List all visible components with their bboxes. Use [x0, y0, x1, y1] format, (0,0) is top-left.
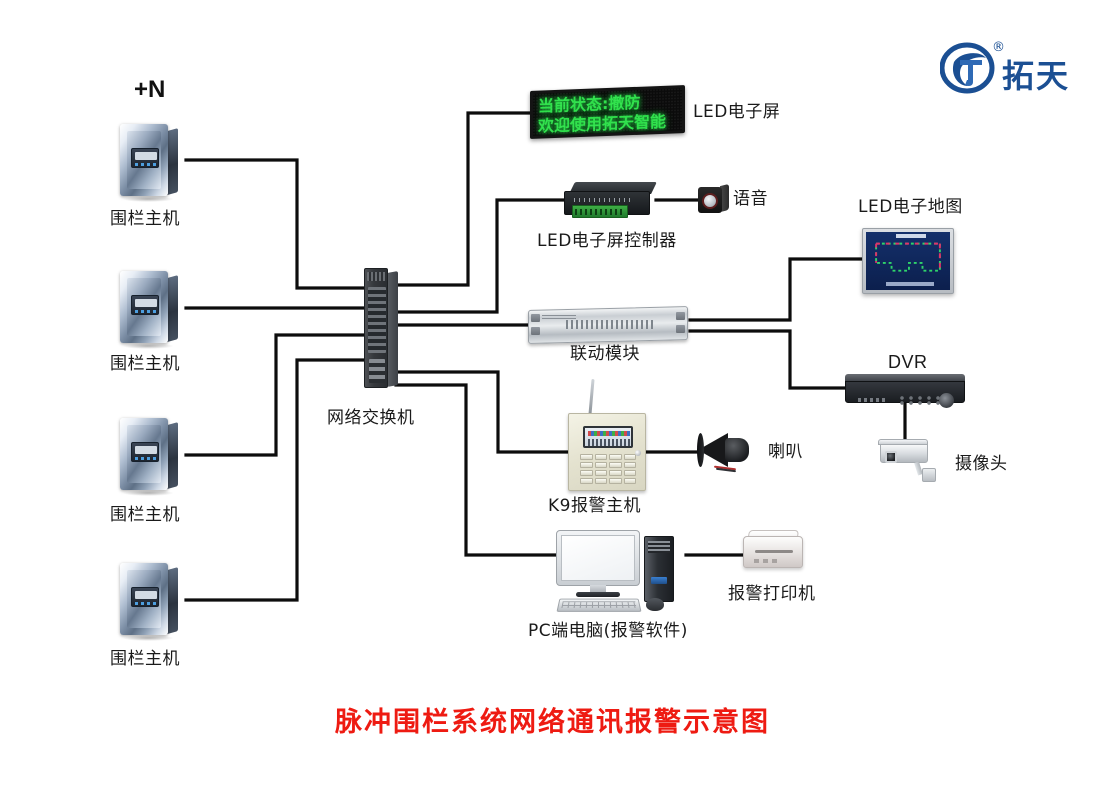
dvr-label: DVR — [888, 352, 928, 373]
keypad-key[interactable] — [624, 462, 637, 468]
tower-front-panel — [651, 577, 667, 584]
device-shadow — [122, 635, 174, 641]
wire-switch-ledcontroller — [396, 200, 567, 312]
camera-body — [880, 442, 928, 463]
keypad-key[interactable] — [580, 478, 593, 484]
wire-linkage-dvr — [690, 331, 845, 388]
led-display-label: LED电子屏 — [693, 103, 780, 123]
diagram-canvas: ® 拓天 +N 围栏主机 围栏主机 — [0, 0, 1105, 800]
keypad-key[interactable] — [580, 470, 593, 476]
switch-face — [364, 268, 388, 388]
device-body — [120, 418, 168, 490]
camera-mount — [922, 468, 936, 482]
horn-wires — [714, 463, 744, 471]
device-lcd — [135, 446, 157, 454]
horn-speaker-icon[interactable] — [698, 430, 760, 474]
keypad-key[interactable] — [624, 478, 637, 484]
led-controller-label: LED电子屏控制器 — [537, 232, 677, 252]
device-shadow — [122, 343, 174, 349]
keypad-key[interactable] — [624, 470, 637, 476]
network-switch-icon[interactable] — [364, 268, 398, 388]
keypad-key[interactable] — [609, 462, 622, 468]
module-ear-right-top — [676, 312, 685, 320]
alarm-keypad[interactable] — [580, 454, 636, 484]
keypad-key[interactable] — [595, 478, 608, 484]
map-screen — [866, 232, 950, 290]
module-ear-right-bottom — [676, 325, 685, 333]
linkage-module-label: 联动模块 — [570, 345, 640, 365]
brand-logo: ® 拓天 — [940, 42, 1100, 100]
keypad-key[interactable] — [580, 462, 593, 468]
speaker-face — [698, 187, 722, 213]
keypad-key[interactable] — [609, 454, 622, 460]
alarm-panel-icon[interactable] — [568, 413, 646, 491]
device-panel — [131, 587, 159, 607]
alarm-lcd-text — [588, 439, 630, 446]
pc-label: PC端电脑(报警软件) — [528, 622, 688, 642]
printer-label: 报警打印机 — [728, 585, 816, 605]
alarm-lcd-indicators — [588, 431, 630, 436]
module-vents — [566, 320, 656, 329]
keypad-key[interactable] — [624, 454, 637, 460]
alarm-body — [568, 413, 646, 491]
module-ear-left-top — [531, 314, 540, 322]
led-line-2: 欢迎使用拓天智能 — [538, 111, 677, 136]
fence-host-icon[interactable] — [118, 271, 180, 345]
monitor[interactable] — [556, 530, 640, 586]
horn-driver-body — [725, 438, 749, 462]
device-lcd — [135, 299, 157, 307]
switch-side — [387, 271, 398, 387]
dvr-face — [845, 381, 965, 403]
multiplier-note: +N — [134, 76, 165, 104]
map-screen-caption — [886, 282, 934, 286]
wire-linkage-ledmap — [690, 259, 862, 320]
speaker-driver — [702, 193, 718, 209]
fence-host-icon[interactable] — [118, 563, 180, 637]
device-panel — [131, 295, 159, 315]
wire-switch-pc — [396, 385, 556, 555]
led-map-icon[interactable] — [862, 228, 954, 294]
brand-name: 拓天 — [1002, 51, 1070, 97]
device-panel — [131, 148, 159, 168]
fence-host-3-label: 围栏主机 — [110, 506, 180, 526]
fence-host-4-label: 围栏主机 — [110, 650, 180, 670]
keypad-key[interactable] — [595, 462, 608, 468]
device-leds — [135, 310, 157, 313]
keypad-key[interactable] — [595, 470, 608, 476]
dvr-icon[interactable] — [845, 374, 965, 404]
horn-label: 喇叭 — [768, 443, 803, 463]
k9-alarm-label: K9报警主机 — [548, 497, 641, 517]
device-body — [120, 124, 168, 196]
camera-lens — [885, 451, 897, 463]
led-controller-icon[interactable] — [562, 182, 658, 222]
module-ear-left-bottom — [531, 327, 540, 335]
device-leds — [135, 457, 157, 460]
device-body — [120, 271, 168, 343]
keypad-key[interactable] — [609, 478, 622, 484]
fence-host-2-label: 围栏主机 — [110, 355, 180, 375]
dvr-buttons — [898, 395, 944, 405]
tuotian-emblem-icon — [940, 42, 996, 96]
fence-host-1-label: 围栏主机 — [110, 210, 180, 230]
device-leds — [135, 163, 157, 166]
device-leds — [135, 602, 157, 605]
voice-label: 语音 — [733, 190, 768, 210]
camera-label: 摄像头 — [955, 455, 1008, 475]
keypad-key[interactable] — [580, 454, 593, 460]
alarm-lcd — [583, 426, 633, 448]
fence-host-icon[interactable] — [118, 124, 180, 198]
wire-fence1-switch — [186, 160, 368, 288]
device-body — [120, 563, 168, 635]
switch-top-vents — [367, 272, 387, 281]
bullet-camera-icon[interactable] — [878, 438, 948, 484]
monitor-screen — [561, 535, 635, 581]
switch-sfp-ports — [369, 359, 385, 383]
controller-indicators — [574, 198, 632, 202]
mouse[interactable] — [646, 598, 664, 611]
fence-host-icon[interactable] — [118, 418, 180, 492]
device-panel — [131, 442, 159, 462]
tower-drive-bays — [648, 541, 670, 553]
voice-speaker-icon[interactable] — [698, 185, 730, 215]
switch-label: 网络交换机 — [327, 409, 415, 429]
keypad-key[interactable] — [595, 454, 608, 460]
monitor-base — [576, 592, 620, 597]
device-shadow — [122, 490, 174, 496]
switch-ports — [368, 287, 386, 353]
printer-body — [743, 536, 803, 568]
printer-buttons[interactable] — [754, 559, 780, 563]
pc-tower[interactable] — [644, 536, 674, 602]
keyboard[interactable] — [556, 599, 641, 612]
keypad-key[interactable] — [609, 470, 622, 476]
alarm-lock-knob — [635, 450, 641, 456]
wire-fence3-switch — [186, 335, 368, 455]
printer-paper-slot — [755, 550, 793, 553]
page-title: 脉冲围栏系统网络通讯报警示意图 — [0, 700, 1105, 739]
printer-icon[interactable] — [743, 528, 807, 572]
desktop-computer-icon[interactable] — [556, 530, 686, 614]
controller-terminal-block — [572, 205, 628, 218]
dvr-brand-mark — [858, 398, 888, 402]
device-lcd — [135, 591, 157, 599]
dvr-jog-dial — [939, 393, 954, 408]
camera-sunshield — [878, 439, 928, 445]
horn-mouth — [697, 433, 704, 467]
device-shadow — [122, 196, 174, 202]
led-display-icon[interactable]: 当前状态:撤防 欢迎使用拓天智能 — [530, 85, 685, 139]
rack-module-icon[interactable] — [528, 308, 688, 342]
device-lcd — [135, 152, 157, 160]
led-map-label: LED电子地图 — [858, 198, 963, 218]
